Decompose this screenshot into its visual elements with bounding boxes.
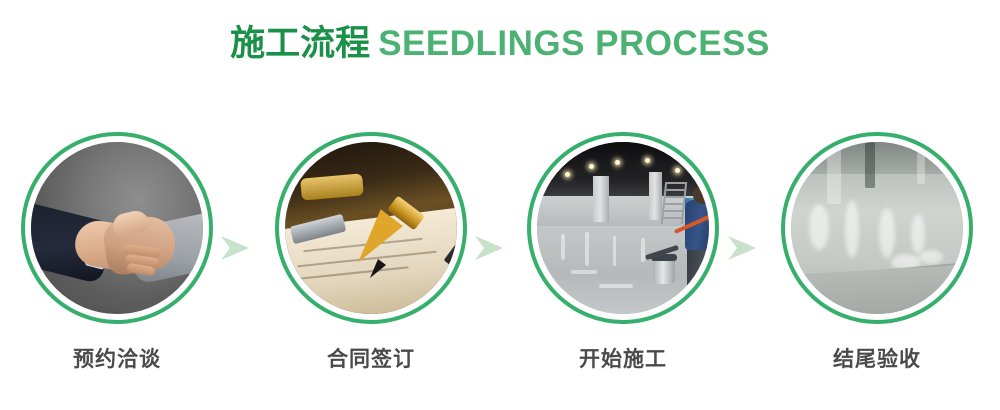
- floor-coating-photo: [537, 142, 709, 314]
- contract-signing-photo: [285, 142, 457, 314]
- step-4-label: 结尾验收: [777, 349, 977, 370]
- process-step-4[interactable]: 结尾验收: [777, 132, 977, 370]
- finished-floor-photo: [791, 142, 963, 314]
- page-title-english: SEEDLINGS PROCESS: [378, 24, 770, 63]
- process-step-3[interactable]: 开始施工: [523, 132, 723, 370]
- step-4-circle: [781, 132, 973, 324]
- arrow-right-icon: [473, 233, 507, 263]
- arrow-right-icon: [726, 233, 760, 263]
- step-3-circle: [527, 132, 719, 324]
- step-1-circle: [21, 132, 213, 324]
- step-2-label: 合同签订: [271, 349, 471, 370]
- page-title: 施工流程SEEDLINGS PROCESS: [0, 26, 1000, 61]
- process-step-2[interactable]: 合同签订: [271, 132, 471, 370]
- handshake-photo: [31, 142, 203, 314]
- page-title-chinese: 施工流程: [230, 24, 370, 63]
- process-section: 施工流程SEEDLINGS PROCESS: [0, 0, 1000, 410]
- step-3-label: 开始施工: [523, 349, 723, 370]
- process-step-1[interactable]: 预约洽谈: [17, 132, 217, 370]
- arrow-right-icon: [219, 233, 253, 263]
- step-1-label: 预约洽谈: [17, 349, 217, 370]
- step-2-circle: [275, 132, 467, 324]
